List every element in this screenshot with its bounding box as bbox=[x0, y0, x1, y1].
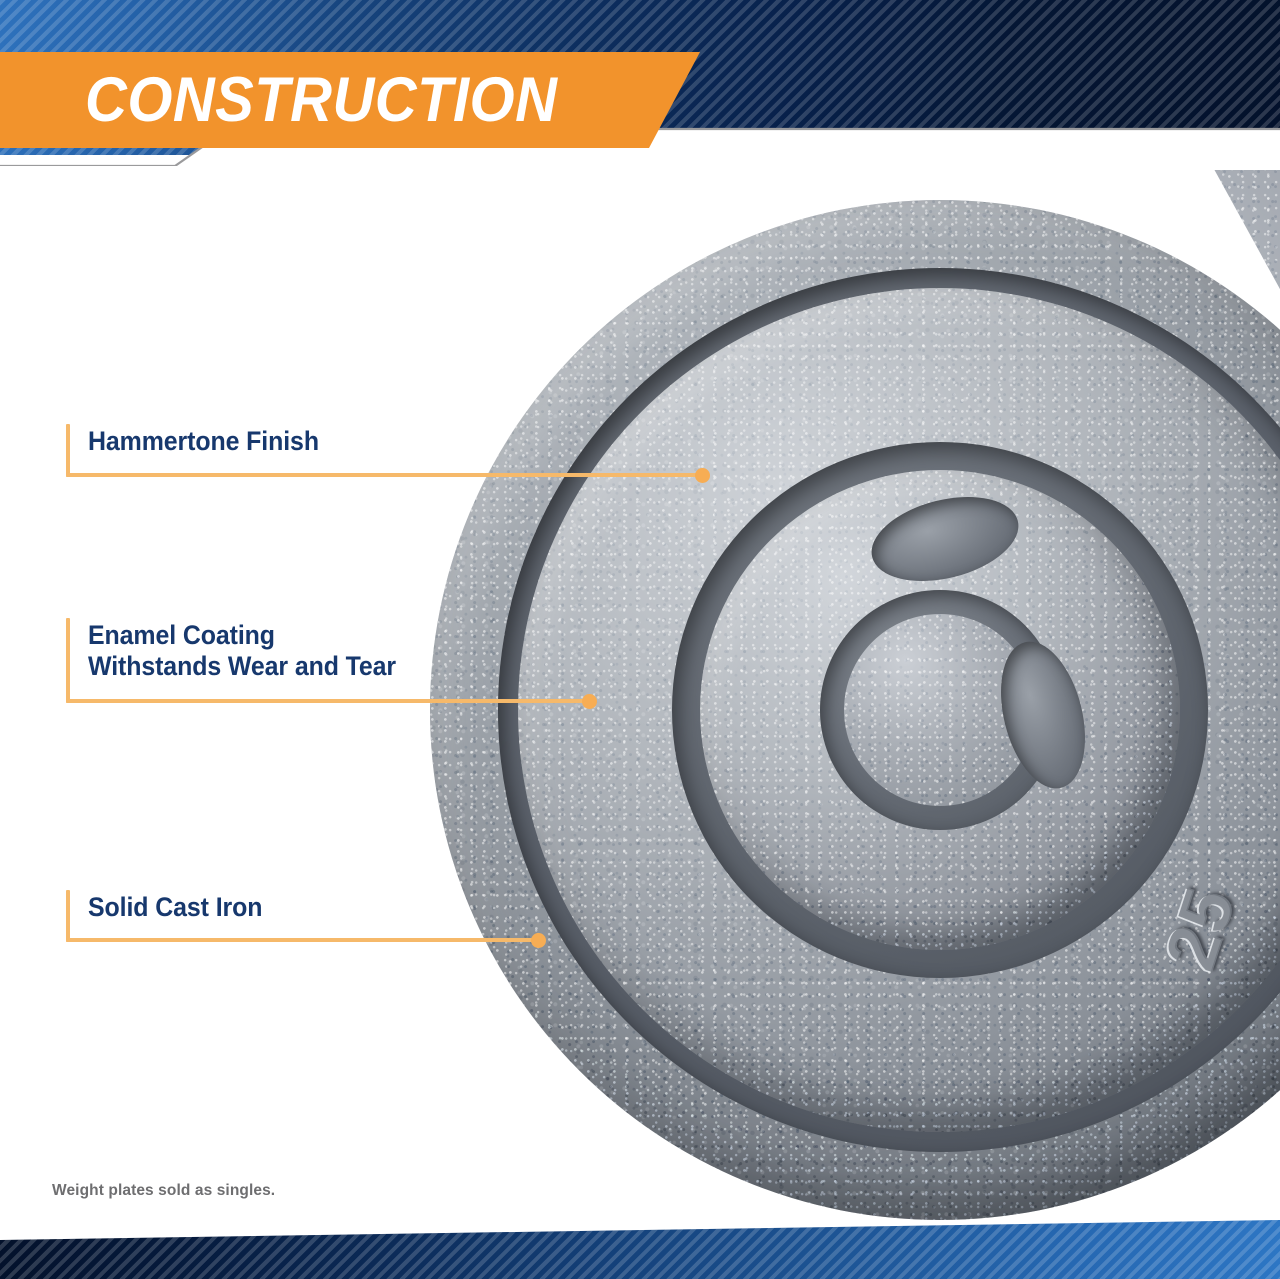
weight-marking-text: 25 bbox=[1150, 878, 1253, 980]
callout-label: Hammertone Finish bbox=[88, 426, 319, 457]
section-title-banner: CONSTRUCTION bbox=[0, 52, 700, 148]
footer-striped-background bbox=[0, 1220, 1280, 1279]
callout-bracket-vertical bbox=[66, 424, 70, 477]
callout-solid-cast-iron: Solid Cast Iron bbox=[66, 890, 556, 950]
callout-label: Enamel Coating Withstands Wear and Tear bbox=[88, 620, 396, 682]
callout-leader-line bbox=[66, 473, 702, 477]
callout-endpoint-dot bbox=[695, 468, 710, 483]
callout-endpoint-dot bbox=[582, 694, 597, 709]
callout-leader-line bbox=[66, 699, 589, 703]
infographic-canvas: CONSTRUCTION bbox=[0, 0, 1280, 1279]
callout-enamel-coating: Enamel Coating Withstands Wear and Tear bbox=[66, 618, 606, 713]
callout-leader-line bbox=[66, 938, 538, 942]
callout-bracket-vertical bbox=[66, 618, 70, 703]
footer-bar bbox=[0, 1220, 1280, 1279]
footnote-text: Weight plates sold as singles. bbox=[52, 1182, 275, 1200]
callout-label: Solid Cast Iron bbox=[88, 892, 262, 923]
callout-hammertone-finish: Hammertone Finish bbox=[66, 424, 716, 484]
page-title: CONSTRUCTION bbox=[85, 69, 557, 132]
callout-bracket-vertical bbox=[66, 890, 70, 942]
callout-endpoint-dot bbox=[531, 933, 546, 948]
header-banner-area: CONSTRUCTION bbox=[0, 0, 1280, 166]
